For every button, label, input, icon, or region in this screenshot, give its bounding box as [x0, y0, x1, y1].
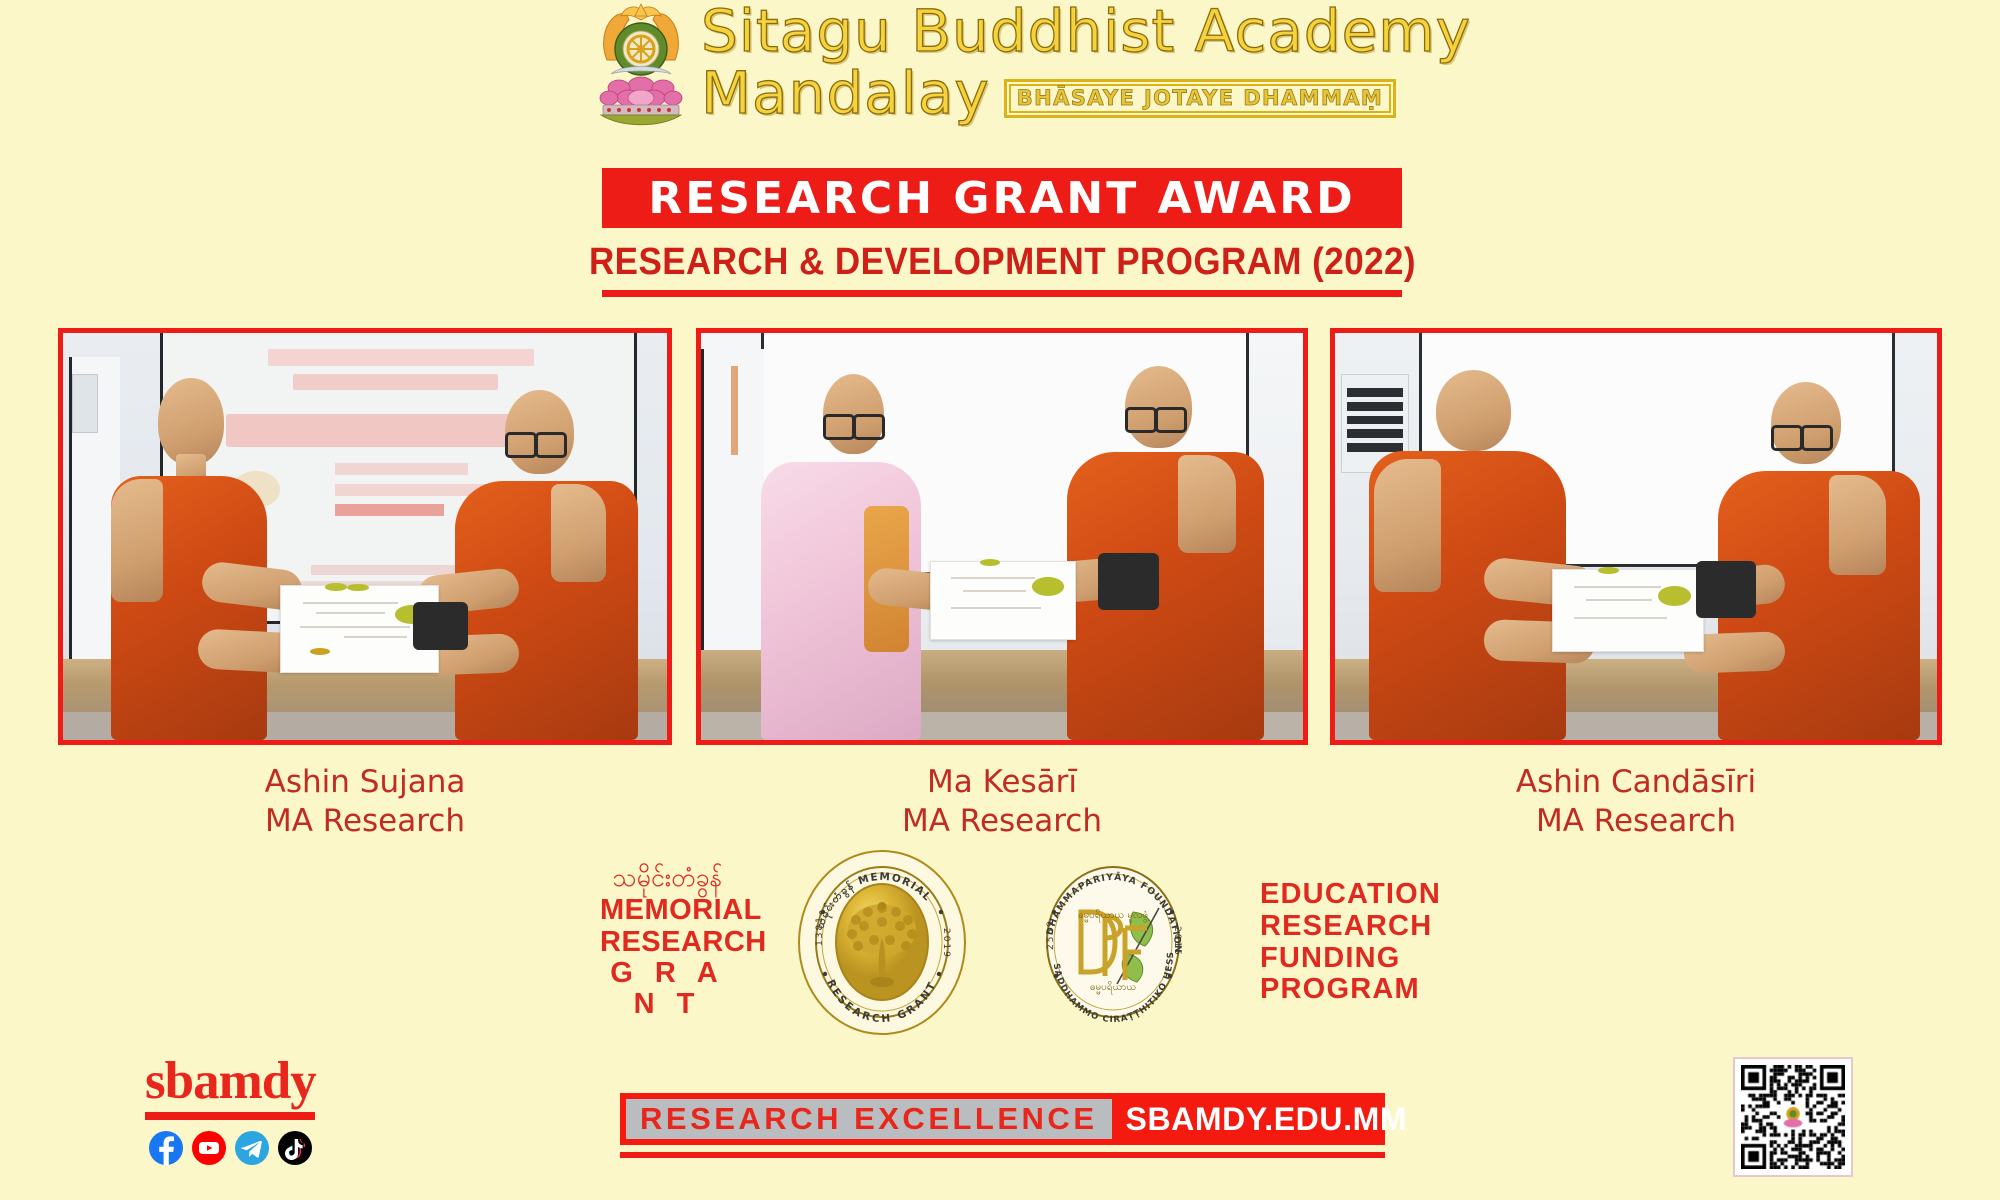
tiktok-icon[interactable] [278, 1131, 312, 1165]
awardee-name: Ashin Sujana [58, 763, 672, 802]
memorial-research-grant-wordmark: သမိုင်းတံခွန် MEMORIAL RESEARCH G R A N … [600, 864, 735, 1020]
awardee-photo-3 [1330, 328, 1942, 745]
social-links-row [145, 1131, 315, 1165]
svg-text:ဓမ္မပရိယာယ: ဓမ္မပရိယာယ [1090, 980, 1136, 995]
research-excellence-label: RESEARCH EXCELLENCE [640, 1101, 1098, 1137]
sitagu-emblem-icon [595, 2, 687, 130]
award-subtitle-text: RESEARCH & DEVELOPMENT PROGRAM (2022) [588, 241, 1415, 284]
awardee-caption-1: Ashin Sujana MA Research [58, 763, 672, 841]
memorial-grant-line2: RESEARCH [600, 927, 735, 958]
erfp-line4: PROGRAM [1260, 974, 1400, 1006]
memorial-grant-line1: MEMORIAL [600, 895, 735, 926]
poster-header: Sitagu Buddhist Academy Mandalay BHĀSAYE… [0, 0, 2000, 140]
awardee-program: MA Research [1330, 802, 1942, 841]
motto-box: BHĀSAYE JOTAYE DHAMMAṂ [1004, 79, 1397, 118]
qr-code-icon[interactable] [1733, 1057, 1853, 1177]
award-title-banner: RESEARCH GRANT AWARD [602, 168, 1402, 228]
awardee-name: Ma Kesārī [696, 763, 1308, 802]
svg-text:2015: 2015 [1172, 926, 1182, 957]
peacock-medal-seal-icon: ထမိုင်းတံခွန် MEMORIAL RESEARCH GRANT 13… [798, 850, 966, 1035]
awardee-photo-2 [696, 328, 1308, 745]
erfp-line2: RESEARCH [1260, 911, 1400, 943]
memorial-grant-burmese: သမိုင်းတံခွန် [600, 864, 735, 891]
academy-name-line2: Mandalay [701, 64, 990, 122]
sponsor-logo-row: သမိုင်းတံခွန် MEMORIAL RESEARCH G R A N … [600, 845, 1400, 1040]
award-subtitle: RESEARCH & DEVELOPMENT PROGRAM (2022) [602, 238, 1402, 286]
photo-2-scene [701, 333, 1303, 740]
svg-text:2019: 2019 [941, 928, 951, 959]
telegram-icon[interactable] [235, 1131, 269, 1165]
academy-name-line1: Sitagu Buddhist Academy [701, 2, 1471, 60]
award-title-text: RESEARCH GRANT AWARD [648, 173, 1355, 224]
svg-text:1381: 1381 [815, 915, 825, 946]
erfp-line1: EDUCATION [1260, 879, 1400, 911]
research-excellence-chip: RESEARCH EXCELLENCE [626, 1099, 1112, 1139]
sbamdy-wordmark: sbamdy [145, 1055, 315, 1108]
memorial-grant-line3: G R A N T [600, 958, 735, 1021]
awardee-program: MA Research [696, 802, 1308, 841]
svg-text:ဓမ္မပရိယာယ မူလဖွံ့: ဓမ္မပရိယာယ မူလဖွံ့ [1078, 908, 1150, 923]
website-url[interactable]: SBAMDY.EDU.MM [1126, 1101, 1408, 1138]
header-text-block: Sitagu Buddhist Academy Mandalay BHĀSAYE… [701, 2, 1471, 122]
header-inner: Sitagu Buddhist Academy Mandalay BHĀSAYE… [595, 2, 1471, 130]
awardee-caption-2: Ma Kesārī MA Research [696, 763, 1308, 841]
photo-1-scene [63, 333, 667, 740]
awardee-caption-3: Ashin Candāsīri MA Research [1330, 763, 1942, 841]
awardee-photo-1 [58, 328, 672, 745]
svg-text:2559: 2559 [1046, 919, 1056, 950]
bottom-divider [620, 1152, 1385, 1158]
erfp-line3: FUNDING [1260, 943, 1400, 975]
subtitle-divider [602, 290, 1402, 297]
research-excellence-banner: RESEARCH EXCELLENCE SBAMDY.EDU.MM [620, 1093, 1385, 1145]
sbamdy-brand-block: sbamdy [145, 1055, 315, 1165]
sbamdy-underline [145, 1112, 315, 1120]
education-research-funding-program-wordmark: EDUCATION RESEARCH FUNDING PROGRAM [1260, 879, 1400, 1007]
academy-name-line2-row: Mandalay BHĀSAYE JOTAYE DHAMMAṂ [701, 64, 1471, 122]
youtube-icon[interactable] [192, 1131, 226, 1165]
dhammapariyaya-foundation-seal-icon: ဓမ္မပရိယာယ မူလဖွံ့ ဓမ္မပရိယာယ DHAMMAPARI… [1029, 850, 1197, 1035]
photo-3-scene [1335, 333, 1937, 740]
awardee-name: Ashin Candāsīri [1330, 763, 1942, 802]
facebook-icon[interactable] [149, 1131, 183, 1165]
awardee-program: MA Research [58, 802, 672, 841]
motto-text: BHĀSAYE JOTAYE DHAMMAṂ [1017, 86, 1384, 110]
